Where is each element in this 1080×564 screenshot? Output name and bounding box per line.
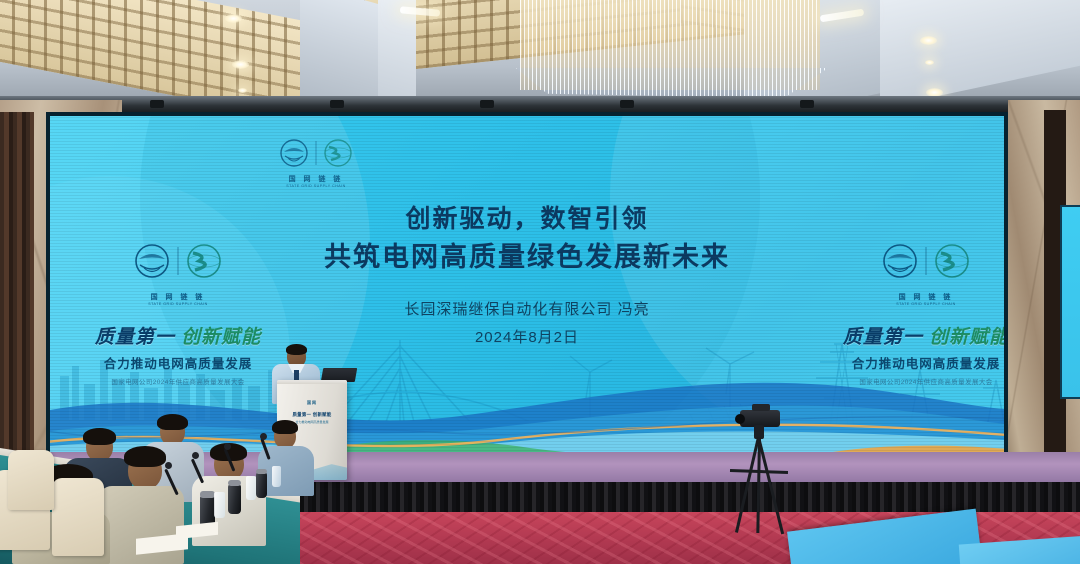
rail-clip (150, 100, 164, 108)
rail-clip (620, 100, 634, 108)
side-led-panel (1060, 205, 1080, 399)
banner-left-subhead: 合力推动电网高质量发展 (78, 353, 278, 372)
ceiling-beam-d (880, 0, 1080, 108)
curtain-left (0, 112, 34, 462)
ceiling-downlight (232, 60, 249, 69)
chandelier-fringe (516, 68, 828, 98)
chair (8, 450, 54, 510)
banner-left-headline: 质量第一 创新赋能 (78, 322, 278, 349)
video-camera-lens (735, 414, 745, 424)
water-bottle (214, 492, 225, 518)
rail-clip (480, 100, 494, 108)
microphone-head (224, 443, 231, 450)
banner-right-footer: 国家电网公司2024年供应商高质量发展大会 (826, 376, 1004, 386)
attendee-hair (83, 428, 116, 445)
microphone-head (260, 433, 267, 440)
thermos (228, 484, 241, 514)
ceiling-downlight (225, 14, 242, 23)
speaker-hair (286, 344, 307, 355)
banner-right-headline: 质量第一 创新赋能 (826, 322, 1004, 349)
banner-right-subhead: 合力推动电网高质量发展 (826, 353, 1004, 372)
water-bottle (272, 466, 281, 487)
banner-right-logo: 国 网 链 链 STATE GRID SUPPLY CHAIN (872, 242, 980, 306)
banner-left-logo-en: STATE GRID SUPPLY CHAIN (124, 302, 232, 306)
conference-photo: 国 网 链 链 STATE GRID SUPPLY CHAIN 创新驱动，数智引… (0, 0, 1080, 564)
led-screen: 国 网 链 链 STATE GRID SUPPLY CHAIN 创新驱动，数智引… (50, 116, 1004, 460)
banner-right-headline-part1: 质量第一 (843, 327, 923, 348)
banner-left-headline-part2: 创新赋能 (181, 327, 261, 348)
attendee-hair (272, 420, 298, 434)
water-bottle (246, 476, 256, 500)
slide-title-line1: 创新驱动，数智引领 (50, 202, 1004, 238)
banner-right: 国 网 链 链 STATE GRID SUPPLY CHAIN 质量第一 创新赋… (826, 242, 1004, 386)
microphone-head (165, 462, 172, 469)
microphone-head (192, 452, 199, 459)
attendee-hair (124, 446, 166, 467)
podium-top (277, 380, 347, 384)
ceiling-downlight (920, 36, 937, 45)
banner-left-footer: 国家电网公司2024年供应商高质量发展大会 (78, 376, 278, 386)
chair (52, 478, 104, 556)
thermos (256, 472, 267, 498)
banner-right-logo-en: STATE GRID SUPPLY CHAIN (872, 302, 980, 306)
rail-clip (800, 100, 814, 108)
slide-logo-name-en: STATE GRID SUPPLY CHAIN (272, 184, 360, 188)
thermos-cap (200, 491, 215, 498)
slide-logo: 国 网 链 链 STATE GRID SUPPLY CHAIN (272, 138, 360, 184)
banner-right-logo-cn: 国 网 链 链 (872, 292, 980, 302)
attendee-hair (157, 414, 188, 430)
video-camera-hood (752, 404, 770, 411)
podium-line1: 质量第一 创新赋能 (286, 412, 338, 418)
thermos-cap (256, 469, 267, 474)
podium-logo-text: 国网 (286, 400, 338, 406)
banner-left: 国 网 链 链 STATE GRID SUPPLY CHAIN 质量第一 创新赋… (78, 242, 278, 386)
thermos-cap (228, 480, 241, 486)
rail-clip (330, 100, 344, 108)
ceiling-downlight (925, 60, 934, 65)
banner-left-logo-cn: 国 网 链 链 (124, 292, 232, 302)
ceiling-downlight (238, 88, 247, 93)
slide-logo-name-cn: 国 网 链 链 (272, 174, 360, 184)
banner-right-headline-part2: 创新赋能 (929, 327, 1004, 348)
banner-left-logo: 国 网 链 链 STATE GRID SUPPLY CHAIN (124, 242, 232, 306)
podium-panel: 国网 质量第一 创新赋能 合力推动电网高质量发展 (286, 400, 338, 424)
banner-left-headline-part1: 质量第一 (95, 327, 175, 348)
